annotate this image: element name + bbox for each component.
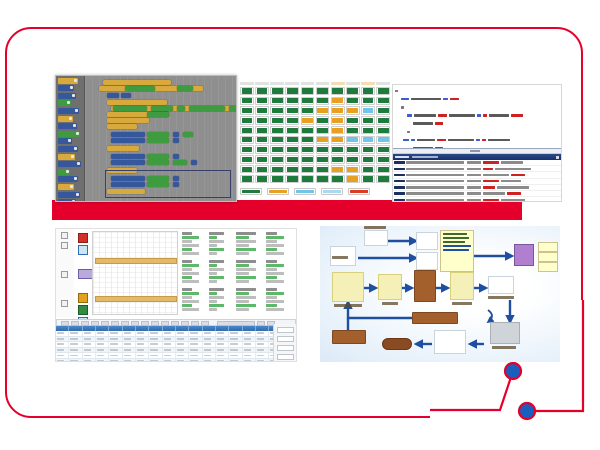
- table-cell[interactable]: [109, 353, 122, 358]
- quality-inspection-node[interactable]: [450, 272, 474, 300]
- palette-block[interactable]: [58, 146, 78, 152]
- status-cell[interactable]: [255, 136, 269, 144]
- status-cell[interactable]: [361, 116, 375, 124]
- sheet-note-block[interactable]: [209, 288, 233, 312]
- system-terminal-node[interactable]: [364, 230, 388, 246]
- status-cell[interactable]: [316, 116, 330, 124]
- status-cell[interactable]: [301, 116, 315, 124]
- status-cell[interactable]: [255, 87, 269, 95]
- table-cell[interactable]: [176, 348, 189, 353]
- table-cell[interactable]: [149, 348, 162, 353]
- status-cell[interactable]: [331, 136, 345, 144]
- side-button[interactable]: [277, 345, 294, 351]
- palette-block[interactable]: [58, 176, 78, 182]
- logic-block[interactable]: [147, 160, 169, 165]
- status-cell[interactable]: [376, 165, 390, 173]
- logic-block[interactable]: [151, 106, 173, 111]
- table-cell[interactable]: [256, 348, 269, 353]
- toolbar-button[interactable]: [181, 321, 189, 326]
- erp-records-node[interactable]: [416, 252, 438, 270]
- order-documents-node[interactable]: [416, 232, 438, 250]
- status-cell[interactable]: [376, 155, 390, 163]
- table-cell[interactable]: [83, 342, 96, 347]
- status-cell[interactable]: [301, 136, 315, 144]
- code-line[interactable]: [393, 96, 561, 102]
- sheet-note-block[interactable]: [266, 288, 292, 312]
- table-cell[interactable]: [189, 353, 202, 358]
- table-cell[interactable]: [176, 359, 189, 362]
- table-cell[interactable]: [176, 331, 189, 336]
- toolbar-button[interactable]: [81, 321, 89, 326]
- status-cell[interactable]: [361, 106, 375, 114]
- table-cell[interactable]: [83, 337, 96, 342]
- barcode-label-print-node[interactable]: [488, 276, 514, 294]
- toolbar-button[interactable]: [61, 321, 69, 326]
- table-cell[interactable]: [136, 331, 149, 336]
- table-cell[interactable]: [83, 331, 96, 336]
- table-cell[interactable]: [229, 342, 242, 347]
- table-cell[interactable]: [256, 342, 269, 347]
- table-cell[interactable]: [56, 359, 69, 362]
- table-cell[interactable]: [163, 353, 176, 358]
- sheet-icon[interactable]: [61, 242, 68, 249]
- status-cell[interactable]: [376, 97, 390, 105]
- status-cell[interactable]: [270, 126, 284, 134]
- status-cell[interactable]: [301, 155, 315, 163]
- status-cell[interactable]: [240, 136, 254, 144]
- toolbar-button[interactable]: [131, 321, 139, 326]
- code-line[interactable]: [393, 88, 561, 94]
- status-cell[interactable]: [316, 87, 330, 95]
- sheet-note-block[interactable]: [182, 232, 206, 256]
- palette-block[interactable]: [58, 123, 77, 129]
- status-cell[interactable]: [285, 116, 299, 124]
- status-cell[interactable]: [376, 87, 390, 95]
- planning-sheet-upper[interactable]: [56, 229, 296, 317]
- value-block[interactable]: [173, 154, 179, 159]
- table-cell[interactable]: [136, 337, 149, 342]
- status-cell[interactable]: [361, 126, 375, 134]
- code-editor-panel[interactable]: [392, 84, 562, 202]
- control-block[interactable]: [107, 124, 137, 129]
- table-cell[interactable]: [243, 331, 256, 336]
- table-cell[interactable]: [216, 342, 229, 347]
- table-cell[interactable]: [123, 342, 136, 347]
- table-cell[interactable]: [96, 348, 109, 353]
- table-cell[interactable]: [96, 331, 109, 336]
- status-cell[interactable]: [361, 97, 375, 105]
- status-cell[interactable]: [361, 145, 375, 153]
- status-cell[interactable]: [346, 116, 360, 124]
- status-cell[interactable]: [240, 87, 254, 95]
- status-cell[interactable]: [240, 126, 254, 134]
- table-cell[interactable]: [256, 337, 269, 342]
- toolbar-search-field[interactable]: [217, 321, 255, 326]
- status-cell[interactable]: [240, 116, 254, 124]
- status-cell[interactable]: [270, 116, 284, 124]
- side-button[interactable]: [277, 336, 294, 342]
- sheet-note-block[interactable]: [236, 232, 260, 256]
- table-cell[interactable]: [203, 359, 216, 362]
- blocks-workspace[interactable]: [85, 76, 236, 201]
- toolbar-button[interactable]: [161, 321, 169, 326]
- table-cell[interactable]: [256, 359, 269, 362]
- setter-block[interactable]: [111, 154, 145, 159]
- status-cell[interactable]: [331, 175, 345, 183]
- logic-block[interactable]: [177, 86, 193, 91]
- status-cell-grid-panel[interactable]: [240, 82, 390, 200]
- toolbar-button[interactable]: [171, 321, 179, 326]
- table-cell[interactable]: [136, 342, 149, 347]
- table-cell[interactable]: [189, 359, 202, 362]
- status-cell[interactable]: [361, 136, 375, 144]
- toolbar-button[interactable]: [71, 321, 79, 326]
- control-block[interactable]: [107, 146, 139, 151]
- table-cell[interactable]: [229, 359, 242, 362]
- logic-block[interactable]: [147, 132, 169, 137]
- logic-block[interactable]: [113, 106, 147, 111]
- table-cell[interactable]: [189, 331, 202, 336]
- logic-block[interactable]: [229, 106, 237, 111]
- table-cell[interactable]: [243, 348, 256, 353]
- palette-block[interactable]: [58, 108, 79, 114]
- table-cell[interactable]: [123, 348, 136, 353]
- status-cell[interactable]: [301, 175, 315, 183]
- status-cell[interactable]: [270, 106, 284, 114]
- status-cell[interactable]: [301, 165, 315, 173]
- table-cell[interactable]: [123, 337, 136, 342]
- blocks-palette[interactable]: [56, 76, 85, 201]
- status-cell[interactable]: [376, 106, 390, 114]
- status-cell[interactable]: [285, 87, 299, 95]
- setter-block[interactable]: [111, 138, 145, 143]
- status-cell[interactable]: [346, 136, 360, 144]
- status-cell[interactable]: [331, 145, 345, 153]
- status-cell[interactable]: [346, 165, 360, 173]
- toolbar-button[interactable]: [91, 321, 99, 326]
- table-cell[interactable]: [69, 359, 82, 362]
- setter-block[interactable]: [111, 132, 145, 137]
- value-block[interactable]: [173, 132, 179, 137]
- event-block[interactable]: [103, 80, 171, 85]
- status-cell[interactable]: [346, 155, 360, 163]
- table-cell[interactable]: [136, 359, 149, 362]
- status-cell[interactable]: [270, 97, 284, 105]
- logic-block[interactable]: [189, 106, 225, 111]
- table-cell[interactable]: [149, 331, 162, 336]
- data-grid-body[interactable]: [56, 326, 296, 362]
- table-cell[interactable]: [203, 337, 216, 342]
- status-cell[interactable]: [316, 165, 330, 173]
- status-cell[interactable]: [331, 155, 345, 163]
- table-cell[interactable]: [149, 353, 162, 358]
- table-cell[interactable]: [243, 353, 256, 358]
- status-cell[interactable]: [331, 106, 345, 114]
- sheet-note-block[interactable]: [236, 260, 260, 284]
- status-cell[interactable]: [346, 145, 360, 153]
- status-cell-grid[interactable]: [240, 87, 390, 183]
- table-cell[interactable]: [123, 331, 136, 336]
- sheet-icon[interactable]: [61, 271, 68, 278]
- table-cell[interactable]: [243, 359, 256, 362]
- table-cell[interactable]: [163, 337, 176, 342]
- table-cell[interactable]: [69, 353, 82, 358]
- status-cell[interactable]: [346, 106, 360, 114]
- unloading-forklift-node[interactable]: [378, 274, 402, 300]
- status-cell[interactable]: [285, 155, 299, 163]
- status-cell[interactable]: [316, 145, 330, 153]
- status-node-blue[interactable]: [78, 245, 88, 255]
- status-cell[interactable]: [376, 145, 390, 153]
- table-cell[interactable]: [109, 348, 122, 353]
- status-cell[interactable]: [316, 155, 330, 163]
- sheet-note-block[interactable]: [182, 288, 206, 312]
- table-cell[interactable]: [203, 331, 216, 336]
- toolbar-button[interactable]: [141, 321, 149, 326]
- logic-block[interactable]: [147, 112, 169, 117]
- data-grid-panel[interactable]: [56, 319, 296, 361]
- status-cell[interactable]: [270, 165, 284, 173]
- status-cell[interactable]: [331, 165, 345, 173]
- process-status-column[interactable]: [76, 231, 90, 315]
- variable-block[interactable]: [121, 93, 131, 98]
- code-line[interactable]: [393, 129, 561, 135]
- nonconforming-holding-area-node[interactable]: [412, 312, 458, 324]
- gantt-bar[interactable]: [95, 258, 177, 264]
- receiving-area-node[interactable]: [414, 270, 436, 302]
- sheet-note-block[interactable]: [266, 260, 292, 284]
- table-cell[interactable]: [56, 348, 69, 353]
- status-cell[interactable]: [285, 136, 299, 144]
- status-cell[interactable]: [376, 136, 390, 144]
- status-cell[interactable]: [376, 126, 390, 134]
- status-cell[interactable]: [240, 97, 254, 105]
- table-cell[interactable]: [216, 348, 229, 353]
- table-cell[interactable]: [189, 342, 202, 347]
- table-cell[interactable]: [256, 353, 269, 358]
- logic-block[interactable]: [147, 154, 169, 159]
- table-cell[interactable]: [96, 337, 109, 342]
- logic-block[interactable]: [177, 106, 185, 111]
- status-cell[interactable]: [346, 87, 360, 95]
- sheet-note-block[interactable]: [209, 232, 233, 256]
- table-cell[interactable]: [69, 342, 82, 347]
- table-cell[interactable]: [56, 353, 69, 358]
- toolbar-button[interactable]: [111, 321, 119, 326]
- sheet-note-block[interactable]: [236, 288, 260, 312]
- sheet-note-block[interactable]: [266, 232, 292, 256]
- palette-block[interactable]: [58, 85, 74, 91]
- logistics-flow-diagram[interactable]: [320, 226, 560, 362]
- table-cell[interactable]: [163, 348, 176, 353]
- status-cell[interactable]: [301, 97, 315, 105]
- status-cell[interactable]: [240, 106, 254, 114]
- table-cell[interactable]: [96, 342, 109, 347]
- status-cell[interactable]: [361, 165, 375, 173]
- status-cell[interactable]: [255, 106, 269, 114]
- status-cell[interactable]: [255, 97, 269, 105]
- table-cell[interactable]: [56, 342, 69, 347]
- table-cell[interactable]: [109, 359, 122, 362]
- code-text-area[interactable]: [393, 85, 561, 150]
- close-icon[interactable]: [556, 156, 559, 159]
- table-cell[interactable]: [83, 348, 96, 353]
- putaway-forklift-node[interactable]: [434, 330, 466, 354]
- status-cell[interactable]: [346, 97, 360, 105]
- table-cell[interactable]: [136, 353, 149, 358]
- status-cell[interactable]: [331, 87, 345, 95]
- table-cell[interactable]: [216, 359, 229, 362]
- palette-block[interactable]: [58, 93, 76, 99]
- side-button[interactable]: [277, 354, 294, 360]
- code-line[interactable]: [393, 121, 561, 127]
- status-cell[interactable]: [301, 87, 315, 95]
- table-cell[interactable]: [83, 359, 96, 362]
- variable-block[interactable]: [107, 93, 119, 98]
- setter-block[interactable]: [111, 160, 145, 165]
- status-cell[interactable]: [285, 165, 299, 173]
- status-cell[interactable]: [270, 87, 284, 95]
- table-cell[interactable]: [109, 342, 122, 347]
- table-cell[interactable]: [256, 331, 269, 336]
- status-cell[interactable]: [240, 165, 254, 173]
- status-cell[interactable]: [255, 126, 269, 134]
- table-cell[interactable]: [189, 348, 202, 353]
- table-row[interactable]: [56, 359, 296, 362]
- status-node-purple[interactable]: [78, 269, 93, 279]
- status-cell[interactable]: [331, 116, 345, 124]
- palette-block[interactable]: [58, 161, 81, 167]
- palette-block[interactable]: [58, 138, 72, 144]
- status-cell[interactable]: [301, 126, 315, 134]
- status-cell[interactable]: [285, 175, 299, 183]
- toolbar-button[interactable]: [121, 321, 129, 326]
- palette-block[interactable]: [58, 184, 74, 190]
- palette-block[interactable]: [58, 78, 78, 84]
- table-cell[interactable]: [229, 353, 242, 358]
- status-cell[interactable]: [255, 145, 269, 153]
- table-cell[interactable]: [149, 337, 162, 342]
- gantt-calendar-grid[interactable]: [92, 231, 178, 315]
- table-cell[interactable]: [216, 353, 229, 358]
- status-cell[interactable]: [316, 97, 330, 105]
- sheet-icon[interactable]: [61, 232, 68, 239]
- gantt-bar[interactable]: [95, 296, 177, 302]
- nonconforming-warehouse-node[interactable]: [332, 330, 366, 344]
- status-node-green[interactable]: [78, 305, 88, 315]
- status-cell[interactable]: [270, 175, 284, 183]
- console-output-panel[interactable]: [393, 148, 561, 201]
- table-cell[interactable]: [96, 353, 109, 358]
- palette-block[interactable]: [58, 100, 71, 106]
- status-cell[interactable]: [316, 175, 330, 183]
- table-cell[interactable]: [176, 342, 189, 347]
- table-cell[interactable]: [123, 353, 136, 358]
- status-cell[interactable]: [285, 126, 299, 134]
- blocks-editor-panel[interactable]: [55, 75, 237, 202]
- status-cell[interactable]: [376, 116, 390, 124]
- status-cell[interactable]: [270, 155, 284, 163]
- toolbar-button[interactable]: [151, 321, 159, 326]
- table-cell[interactable]: [56, 331, 69, 336]
- palette-block[interactable]: [58, 116, 73, 122]
- supplier-delivery-truck-node[interactable]: [332, 272, 364, 302]
- status-cell[interactable]: [240, 175, 254, 183]
- logic-block[interactable]: [125, 86, 155, 91]
- planning-sheet-panel[interactable]: [55, 228, 297, 362]
- data-grid-side-buttons[interactable]: [273, 324, 296, 361]
- status-cell[interactable]: [331, 126, 345, 134]
- table-cell[interactable]: [176, 353, 189, 358]
- table-cell[interactable]: [203, 348, 216, 353]
- table-cell[interactable]: [243, 342, 256, 347]
- table-cell[interactable]: [83, 353, 96, 358]
- status-cell[interactable]: [240, 155, 254, 163]
- status-cell[interactable]: [255, 116, 269, 124]
- status-cell[interactable]: [285, 97, 299, 105]
- code-line[interactable]: [393, 137, 561, 143]
- table-cell[interactable]: [243, 337, 256, 342]
- table-cell[interactable]: [96, 359, 109, 362]
- table-cell[interactable]: [69, 348, 82, 353]
- status-cell[interactable]: [285, 106, 299, 114]
- table-cell[interactable]: [229, 348, 242, 353]
- status-cell[interactable]: [316, 136, 330, 144]
- status-cell[interactable]: [270, 145, 284, 153]
- status-cell[interactable]: [346, 175, 360, 183]
- table-cell[interactable]: [149, 359, 162, 362]
- status-cell[interactable]: [240, 145, 254, 153]
- data-grid-toolbar[interactable]: [56, 319, 296, 326]
- table-cell[interactable]: [123, 359, 136, 362]
- control-block[interactable]: [107, 100, 167, 105]
- control-block[interactable]: [107, 118, 149, 123]
- console-log-row[interactable]: [393, 197, 561, 202]
- toolbar-button[interactable]: [101, 321, 109, 326]
- table-cell[interactable]: [109, 337, 122, 342]
- table-cell[interactable]: [203, 353, 216, 358]
- logic-block[interactable]: [147, 138, 169, 143]
- table-cell[interactable]: [189, 337, 202, 342]
- value-block[interactable]: [191, 160, 197, 165]
- palette-block[interactable]: [58, 199, 76, 202]
- status-cell[interactable]: [361, 155, 375, 163]
- logic-block[interactable]: [173, 160, 187, 165]
- inbound-complete-node[interactable]: [382, 338, 412, 350]
- table-cell[interactable]: [163, 331, 176, 336]
- console-log-list[interactable]: [393, 160, 561, 202]
- status-cell[interactable]: [361, 87, 375, 95]
- barcode-scan-in-node[interactable]: [490, 322, 520, 344]
- table-cell[interactable]: [203, 342, 216, 347]
- table-cell[interactable]: [56, 337, 69, 342]
- erp-system-node[interactable]: [514, 244, 534, 266]
- table-cell[interactable]: [163, 359, 176, 362]
- status-cell[interactable]: [376, 175, 390, 183]
- toolbar-button[interactable]: [201, 321, 209, 326]
- logic-block[interactable]: [183, 132, 193, 137]
- table-cell[interactable]: [109, 331, 122, 336]
- table-cell[interactable]: [136, 348, 149, 353]
- code-line[interactable]: [393, 113, 561, 119]
- status-cell[interactable]: [285, 145, 299, 153]
- sheet-icon[interactable]: [61, 300, 68, 307]
- status-node-amber[interactable]: [78, 293, 88, 303]
- value-block[interactable]: [173, 138, 179, 143]
- status-cell[interactable]: [331, 97, 345, 105]
- status-cell[interactable]: [255, 155, 269, 163]
- table-cell[interactable]: [216, 331, 229, 336]
